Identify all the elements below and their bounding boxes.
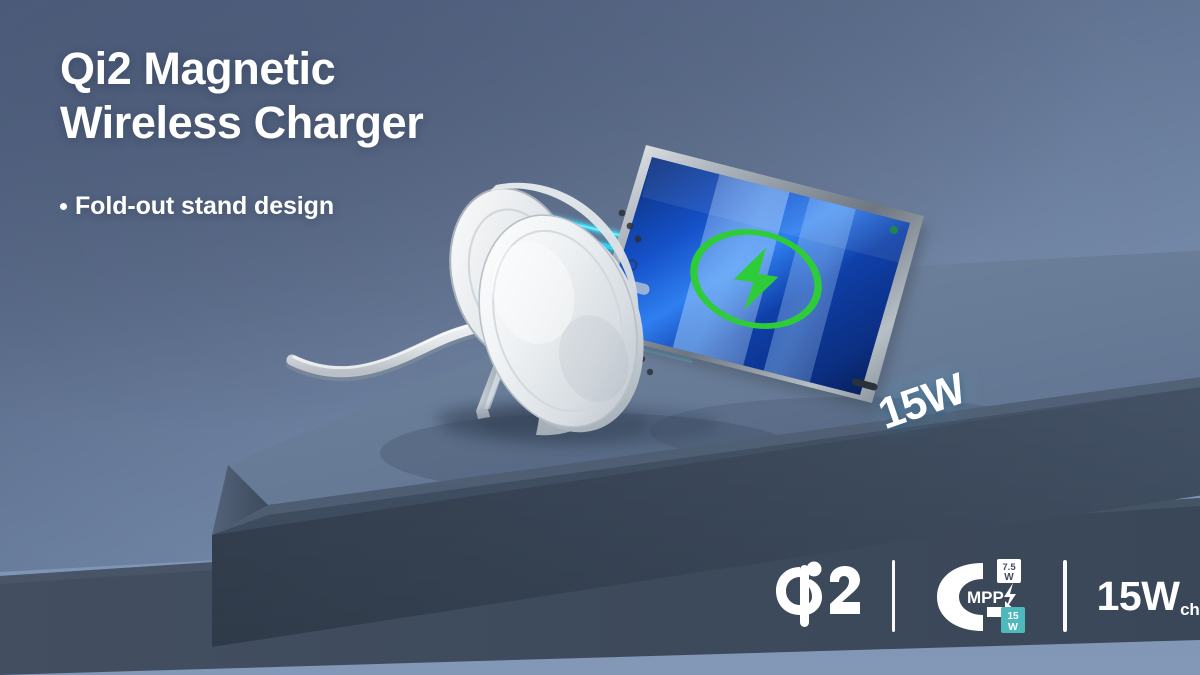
feature-bullet: Fold-out stand design	[60, 192, 620, 221]
feature-bullet-label: Fold-out stand design	[75, 192, 334, 221]
badge-fast-charging: 15W fast charging	[1093, 573, 1200, 620]
bullet-dot-icon	[60, 203, 67, 210]
fast-charging-power: 15W	[1097, 576, 1180, 617]
badge-mpp: MPP 7.5 W 15 W	[921, 557, 1037, 635]
marketing-hero-image: 15W Qi2 Magnetic Wireless Charger Fold-o…	[0, 0, 1200, 675]
page-title: Qi2 Magnetic Wireless Charger	[60, 42, 620, 150]
magnet-icon: MPP 7.5 W 15 W	[921, 557, 1037, 635]
mpp-from-box: 7.5 W	[997, 559, 1021, 583]
fast-charging-caption: fast charging	[1179, 580, 1200, 620]
mpp-label: MPP	[967, 588, 1004, 607]
svg-text:W: W	[1005, 572, 1015, 583]
headline-line-2: Wireless Charger	[60, 96, 620, 150]
qi2-logo-icon	[770, 559, 866, 633]
badge-divider-1	[892, 560, 895, 632]
smartphone-shape	[590, 135, 928, 419]
headline-line-1: Qi2 Magnetic	[60, 43, 335, 94]
mpp-to-box: 15 W	[1001, 607, 1025, 633]
badge-divider-2	[1063, 560, 1066, 632]
copy-block: Qi2 Magnetic Wireless Charger Fold-out s…	[60, 42, 620, 221]
badge-qi2	[770, 559, 866, 633]
certification-badge-row: MPP 7.5 W 15 W	[770, 548, 1200, 644]
svg-text:W: W	[1008, 621, 1018, 633]
